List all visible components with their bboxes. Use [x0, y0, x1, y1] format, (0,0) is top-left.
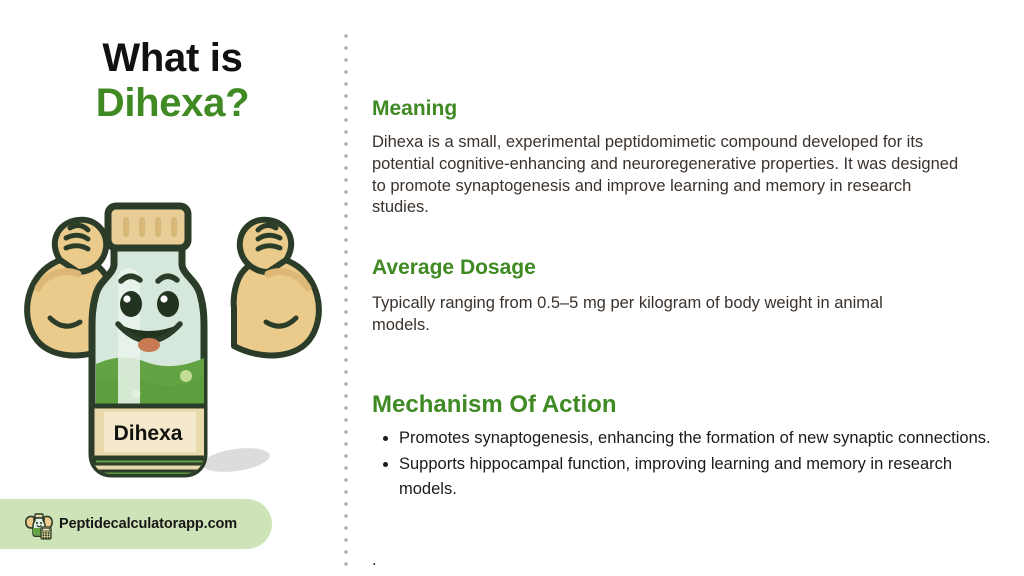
section-heading-meaning: Meaning: [372, 97, 457, 121]
page-title: What is Dihexa?: [0, 36, 345, 126]
content-panel: Meaning Dihexa is a small, experimental …: [370, 0, 1010, 576]
dihexa-bottle-mascot-illustration: Dihexa: [8, 168, 338, 488]
section-heading-average-dosage: Average Dosage: [372, 256, 536, 280]
list-item: Promotes synaptogenesis, enhancing the f…: [399, 426, 1009, 451]
footer-brand-badge: Peptidecalculatorapp.com: [0, 499, 272, 549]
bottle-cap-icon: [108, 206, 188, 248]
section-body-average-dosage: Typically ranging from 0.5–5 mg per kilo…: [372, 293, 932, 337]
mechanism-of-action-list: Promotes synaptogenesis, enhancing the f…: [372, 426, 1009, 502]
section-heading-mechanism-of-action: Mechanism Of Action: [372, 391, 616, 419]
right-arm-icon: [234, 220, 319, 356]
mascot-shadow: [201, 444, 271, 475]
footer-brand-text: Peptidecalculatorapp.com: [59, 516, 237, 532]
title-line-accent: Dihexa?: [0, 81, 345, 126]
left-panel: What is Dihexa?: [0, 0, 345, 576]
title-line-primary: What is: [0, 36, 345, 81]
peptidecalculator-logo-icon: [22, 507, 56, 541]
bottle-body-icon: Dihexa: [92, 206, 208, 480]
bottle-label-text: Dihexa: [114, 422, 183, 445]
trailing-period-mark: .: [372, 552, 377, 569]
slide-canvas: What is Dihexa?: [0, 0, 1024, 576]
list-item: Supports hippocampal function, improving…: [399, 452, 1009, 502]
section-body-meaning: Dihexa is a small, experimental peptidom…: [372, 132, 972, 219]
vertical-dotted-divider: [344, 30, 348, 570]
